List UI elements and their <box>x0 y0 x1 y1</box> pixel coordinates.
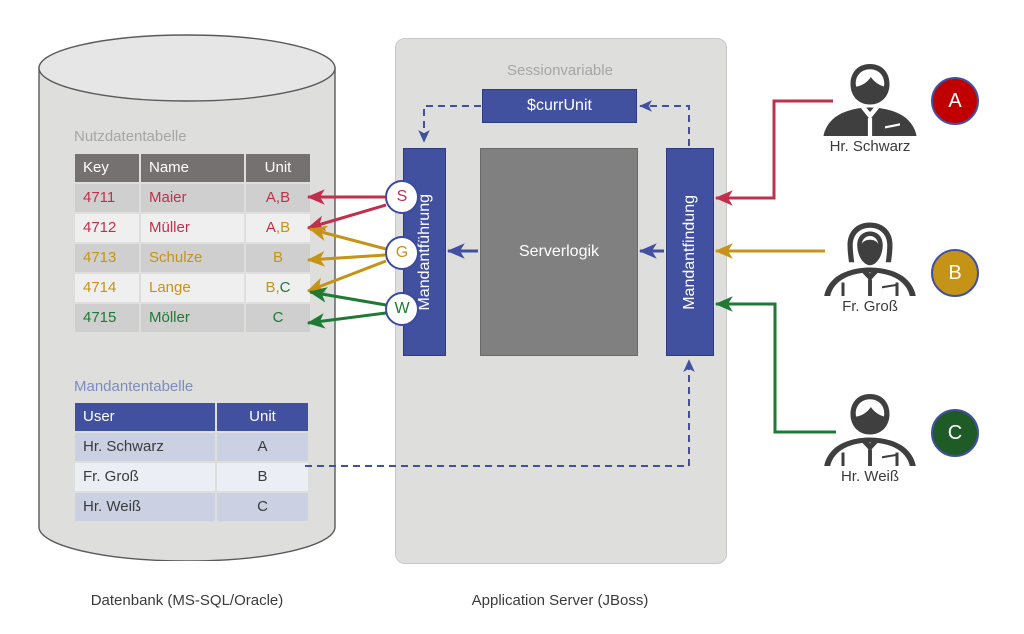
user-female-icon <box>795 218 945 296</box>
table-row: 4713SchulzeB <box>75 244 310 272</box>
table-header-row: Key Name Unit <box>75 154 310 182</box>
table-row: 4712MüllerA,B <box>75 214 310 242</box>
column-header-unit: Unit <box>246 154 310 182</box>
cell-name: Müller <box>141 214 244 242</box>
cell-unit: C <box>246 304 310 332</box>
cell-key: 4714 <box>75 274 139 302</box>
table-row: Hr. SchwarzA <box>75 433 308 461</box>
mandantfindung-box[interactable]: Mandantfindung <box>666 148 714 356</box>
mandanten-table-title: Mandantentabelle <box>74 378 193 395</box>
mandantfindung-label: Mandantfindung <box>681 195 699 310</box>
cell-unit: A,B <box>246 184 310 212</box>
node-w-label: W <box>394 300 409 318</box>
column-header-user: User <box>75 403 215 431</box>
application-server-caption: Application Server (JBoss) <box>395 592 725 609</box>
serverlogik-label: Serverlogik <box>519 243 599 261</box>
cell-user: Fr. Groß <box>75 463 215 491</box>
diagram-canvas: Nutzdatentabelle Key Name Unit 4711Maier… <box>0 0 1024 634</box>
badge-a-label: A <box>948 90 961 113</box>
user-a-block: Hr. Schwarz <box>795 58 945 155</box>
user-a-name: Hr. Schwarz <box>795 138 945 155</box>
cell-unit: B <box>217 463 308 491</box>
currunit-label: $currUnit <box>527 97 592 115</box>
badge-b: B <box>931 249 979 297</box>
cell-unit: A <box>217 433 308 461</box>
cell-unit: C <box>217 493 308 521</box>
user-b-name: Fr. Groß <box>795 298 945 315</box>
nutzdaten-table: Key Name Unit 4711MaierA,B4712MüllerA,B4… <box>73 152 312 334</box>
table-row: Fr. GroßB <box>75 463 308 491</box>
cell-name: Lange <box>141 274 244 302</box>
cell-key: 4711 <box>75 184 139 212</box>
table-row: 4711MaierA,B <box>75 184 310 212</box>
cell-name: Maier <box>141 184 244 212</box>
cell-name: Möller <box>141 304 244 332</box>
column-header-key: Key <box>75 154 139 182</box>
user-male-icon <box>795 388 945 466</box>
node-s-label: S <box>397 188 408 206</box>
currunit-box[interactable]: $currUnit <box>482 89 637 123</box>
badge-c-label: C <box>948 422 962 445</box>
badge-c: C <box>931 409 979 457</box>
badge-a: A <box>931 77 979 125</box>
node-w[interactable]: W <box>385 292 419 326</box>
table-row: Hr. WeißC <box>75 493 308 521</box>
user-suit-icon <box>795 58 945 136</box>
database-caption: Datenbank (MS-SQL/Oracle) <box>38 592 336 609</box>
table-header-row: User Unit <box>75 403 308 431</box>
serverlogik-box[interactable]: Serverlogik <box>480 148 638 356</box>
cell-unit: B <box>246 244 310 272</box>
mandanten-table: User Unit Hr. SchwarzAFr. GroßBHr. WeißC <box>73 401 310 523</box>
cell-unit: B,C <box>246 274 310 302</box>
column-header-unit: Unit <box>217 403 308 431</box>
node-g[interactable]: G <box>385 236 419 270</box>
cell-unit: A,B <box>246 214 310 242</box>
cell-key: 4712 <box>75 214 139 242</box>
cell-name: Schulze <box>141 244 244 272</box>
user-c-name: Hr. Weiß <box>795 468 945 485</box>
badge-b-label: B <box>948 262 961 285</box>
table-row: 4715MöllerC <box>75 304 310 332</box>
node-g-label: G <box>396 244 408 262</box>
cell-key: 4713 <box>75 244 139 272</box>
node-s[interactable]: S <box>385 180 419 214</box>
user-c-block: Hr. Weiß <box>795 388 945 485</box>
nutzdaten-table-title: Nutzdatentabelle <box>74 128 187 145</box>
sessionvariable-label: Sessionvariable <box>395 62 725 79</box>
cell-user: Hr. Schwarz <box>75 433 215 461</box>
column-header-name: Name <box>141 154 244 182</box>
user-b-block: Fr. Groß <box>795 218 945 315</box>
cell-key: 4715 <box>75 304 139 332</box>
cell-user: Hr. Weiß <box>75 493 215 521</box>
table-row: 4714LangeB,C <box>75 274 310 302</box>
